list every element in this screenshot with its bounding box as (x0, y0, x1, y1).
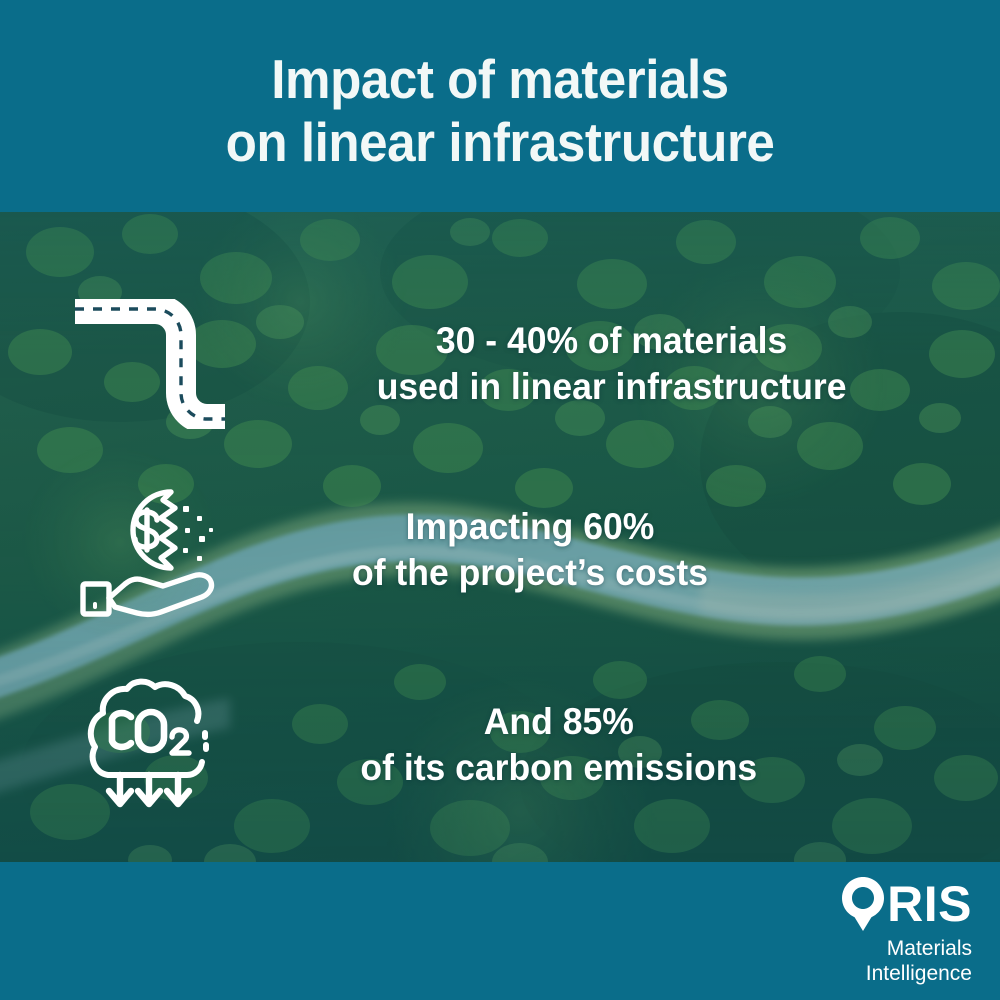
co2-cloud-emissions-icon (75, 675, 225, 815)
stat-text-emissions: And 85% of its carbon emissions (314, 699, 986, 791)
oris-logo[interactable]: RIS Materials Intelligence (840, 876, 972, 986)
winding-road-icon (75, 299, 225, 429)
logo-tagline: Materials Intelligence (840, 936, 972, 986)
infographic-poster: Impact of materials on linear infrastruc… (0, 0, 1000, 1000)
stat-row-materials: 30 - 40% of materials used in linear inf… (0, 274, 1000, 454)
location-pin-o-icon (840, 875, 886, 933)
stat-icon-slot (0, 480, 300, 620)
footer-band: RIS Materials Intelligence (0, 862, 1000, 1000)
stat-icon-slot (0, 299, 300, 429)
header-band: Impact of materials on linear infrastruc… (0, 0, 1000, 212)
hand-holding-broken-coin-icon (75, 480, 225, 620)
stat-row-emissions: And 85% of its carbon emissions (0, 660, 1000, 830)
page-title: Impact of materials on linear infrastruc… (35, 48, 965, 174)
logo-mark: RIS (840, 876, 972, 932)
logo-wordmark: RIS (887, 879, 972, 929)
stat-text-materials: 30 - 40% of materials used in linear inf… (314, 318, 986, 410)
stat-icon-slot (0, 675, 300, 815)
stat-row-costs: Impacting 60% of the project’s costs (0, 470, 1000, 630)
stat-text-costs: Impacting 60% of the project’s costs (314, 504, 986, 596)
stats-rows: 30 - 40% of materials used in linear inf… (0, 212, 1000, 862)
